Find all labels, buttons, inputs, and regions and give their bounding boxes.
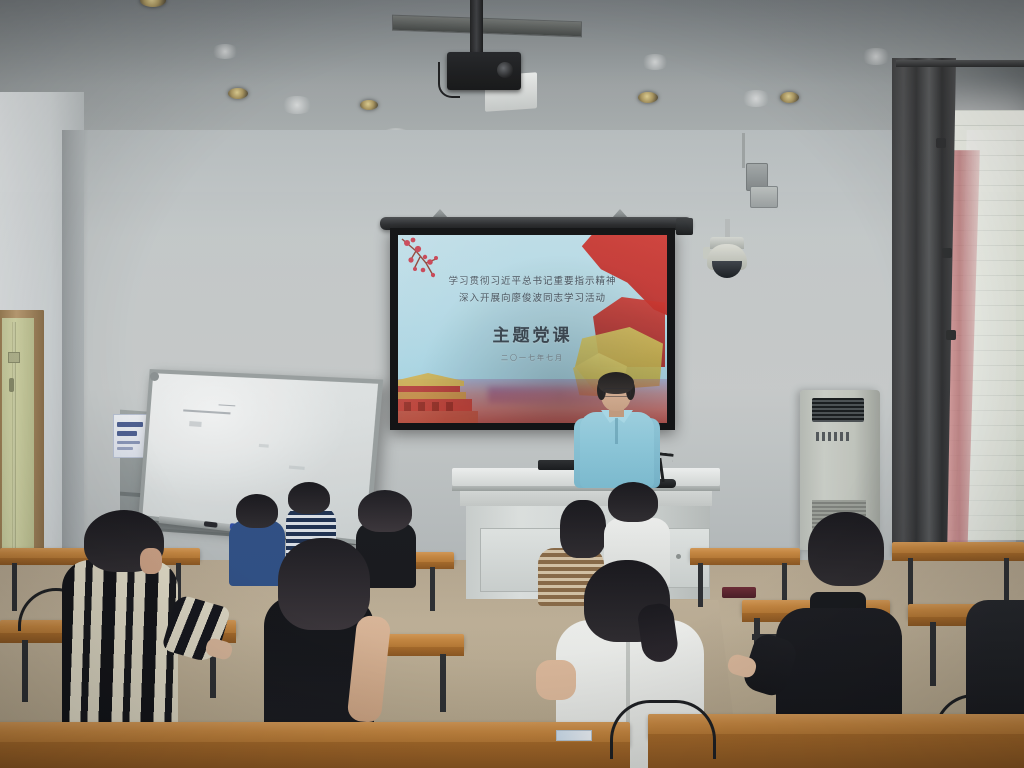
- ceiling-tile-pattern: [280, 96, 314, 114]
- projector-lens: [497, 62, 513, 78]
- desk-leg: [1004, 558, 1009, 606]
- notebook-on-desk[interactable]: [722, 587, 756, 598]
- dark-curtain[interactable]: [892, 58, 956, 558]
- audience-member-torso: [229, 520, 285, 586]
- ceiling-downlight: [780, 92, 799, 103]
- audience-member-hair: [560, 500, 606, 558]
- ceiling-tile-pattern: [860, 48, 892, 65]
- curtain-clip: [946, 330, 956, 340]
- whiteboard-marking: [189, 421, 202, 427]
- podium-cabinet-handle[interactable]: [676, 554, 681, 559]
- ceiling-tile-pattern: [210, 44, 240, 59]
- audience-member-arm: [536, 660, 576, 700]
- sign-text-line: [117, 441, 140, 444]
- desk-leg: [22, 640, 28, 702]
- sign-text-line: [117, 422, 143, 427]
- classroom-photo: 学习贯彻习近平总书记重要指示精神 深入开展向廖俊波同志学习活动 主题党课 二〇一…: [0, 0, 1024, 768]
- sign-text-line: [117, 431, 137, 436]
- audience-member-torso: [62, 560, 178, 730]
- desk-edge: [0, 742, 630, 768]
- audience-member-hair: [358, 490, 412, 532]
- slide-title: 主题党课: [398, 321, 667, 346]
- slide-subtitle-line-1: 学习贯彻习近平总书记重要指示精神: [398, 273, 667, 287]
- audience-member-face: [140, 548, 162, 574]
- whiteboard-marking: [183, 409, 230, 414]
- audience-member-hair: [288, 482, 330, 514]
- door-latch[interactable]: [8, 352, 20, 363]
- wall-corner-shadow: [62, 130, 88, 560]
- whiteboard-marking: [218, 404, 235, 406]
- desk-leg: [440, 654, 446, 712]
- door-handle[interactable]: [9, 378, 14, 392]
- audience-member-hair: [236, 494, 278, 528]
- ac-air-outlet-grille: [812, 398, 864, 422]
- whiteboard-marking: [259, 444, 269, 448]
- tiananmen-gate-icon: [398, 359, 490, 423]
- desk-leg: [12, 563, 17, 611]
- ceiling-downlight: [228, 88, 248, 99]
- curtain-clip: [942, 248, 952, 258]
- desk-leg: [908, 558, 913, 606]
- projector-mount-pole: [470, 0, 483, 58]
- curtain-clip: [936, 138, 946, 148]
- audience-member-hair: [608, 482, 658, 522]
- audience-member-hair: [808, 512, 884, 586]
- chair-backrest[interactable]: [610, 700, 716, 759]
- audience-member-collar: [810, 592, 866, 608]
- wall-speaker-box: [750, 186, 778, 208]
- wall-conduit: [742, 133, 745, 168]
- ceiling-tile-pattern: [740, 90, 772, 107]
- audience-member-hair: [278, 538, 370, 630]
- whiteboard-hinge: [150, 372, 159, 381]
- desk-leg: [430, 567, 435, 611]
- presenter-shirt-placket: [615, 418, 618, 444]
- slide-subtitle-line-2: 深入开展向廖俊波同志学习活动: [398, 290, 667, 304]
- slide-byline: 二〇一七年七月: [398, 353, 667, 363]
- screen-motor-housing: [676, 218, 693, 235]
- sign-text-line: [117, 447, 133, 450]
- presenter-glasses: [603, 388, 631, 397]
- ceiling-downlight: [360, 100, 378, 110]
- ceiling-downlight: [638, 92, 658, 103]
- curtain-rail: [896, 60, 1024, 67]
- desk-leg: [698, 563, 703, 607]
- desk-leg: [930, 622, 936, 686]
- desk-number-sticker: [556, 730, 592, 741]
- ac-brand-label: [816, 432, 850, 441]
- whiteboard-marking: [289, 465, 305, 470]
- ceiling-tile-pattern: [640, 54, 670, 70]
